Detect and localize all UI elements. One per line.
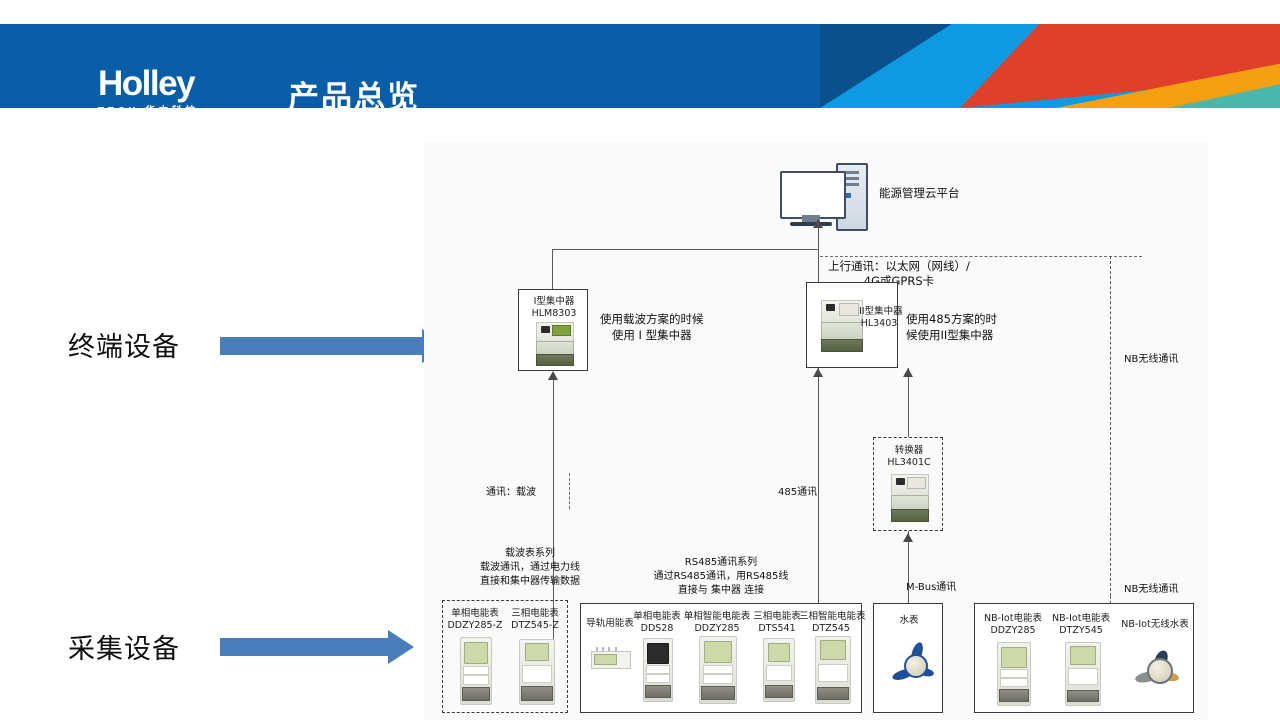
arrow-carrier-into-conc1 <box>548 371 558 380</box>
dashed-uplink-divider <box>820 256 1142 257</box>
arrow-into-converter <box>903 533 913 542</box>
band-label-terminal: 终端设备 <box>68 325 180 364</box>
converter-image <box>891 474 927 522</box>
rs485-series-box[interactable]: 导轨用能表 单相电能表 DDS28 单相智能电能表 DDZY285 <box>580 603 862 713</box>
slide-page: Holley TECH 华立科技 产品总览 终端设备 采集设备 能源管理云平台 <box>0 0 1280 720</box>
logo-wordmark: Holley <box>98 66 268 102</box>
rs485-device-2-name-2: DDZY285 <box>682 622 752 635</box>
line-converter-to-conc2 <box>908 368 909 437</box>
arrow-converter-into-conc2 <box>903 368 913 377</box>
water-meter-icon <box>890 642 938 688</box>
cloud-platform-label: 能源管理云平台 <box>879 185 960 201</box>
rs485-device-3-image <box>763 638 793 700</box>
concentrator-2-note-line1: 使用485方案的时 <box>906 311 997 327</box>
carrier-device-1-name-2: DTZ545-Z <box>505 619 565 632</box>
concentrator-2-note: 使用485方案的时 候使用II型集中器 <box>906 311 997 343</box>
band-arrow-terminal <box>220 329 448 363</box>
nbiot-water-meter-icon <box>1131 648 1183 692</box>
desktop-computer-icon <box>780 163 866 227</box>
concentrator-1-note-line2: 使用 I 型集中器 <box>600 327 704 343</box>
concentrator-1-box[interactable]: I型集中器 HLM8303 <box>518 289 588 371</box>
link-label-nb-bottom: NB无线通讯 <box>1124 583 1178 597</box>
band-label-collection: 采集设备 <box>68 627 180 666</box>
arrow-485-into-conc2 <box>813 368 823 377</box>
rs485-device-3-name-2: DTS541 <box>749 622 805 635</box>
nbiot-series-box[interactable]: NB-Iot电能表 DDZY285 NB-Iot电能表 DTZY545 <box>974 603 1194 713</box>
converter-box[interactable]: 转换器 HL3401C <box>873 437 943 531</box>
concentrator-2-box[interactable]: II型集中器 HL3403 <box>806 282 898 368</box>
slide-header: Holley TECH 华立科技 产品总览 <box>0 24 1280 108</box>
nbiot-device-0-name-2: DDZY285 <box>979 624 1047 637</box>
carrier-device-0-image <box>460 637 490 703</box>
line-conc1-uplink <box>552 249 553 289</box>
line-cloud-feed <box>818 227 819 249</box>
link-label-rs485: 485通讯 <box>778 486 817 500</box>
concentrator-1-note: 使用载波方案的时候 使用 I 型集中器 <box>600 311 704 343</box>
concentrator-1-caption-2: HLM8303 <box>519 307 589 320</box>
rs485-device-1-name-2: DDS28 <box>629 622 685 635</box>
rs485-device-4-image <box>815 636 849 702</box>
diagram-canvas: 能源管理云平台 上行通讯：以太网（网线）/ 4G或GPRS卡 I型集中器 HLM… <box>424 143 1208 720</box>
rs485-device-4-name-2: DTZ545 <box>799 622 863 635</box>
page-title: 产品总览 <box>288 72 420 108</box>
rs485-series-title: RS485通讯系列 <box>576 556 866 570</box>
carrier-device-0-name-2: DDZY285-Z <box>445 619 505 632</box>
line-trunk-horizontal <box>552 249 819 250</box>
holley-logo: Holley TECH 华立科技 <box>98 66 268 108</box>
uplink-note-line1: 上行通讯：以太网（网线）/ <box>828 259 970 274</box>
rs485-device-2-image <box>699 636 735 702</box>
rs485-series-desc-2: 直接与 集中器 连接 <box>576 584 866 598</box>
arrow-to-cloud <box>813 219 823 228</box>
converter-caption-2: HL3401C <box>874 456 944 469</box>
rs485-device-0-image <box>591 646 629 672</box>
concentrator-2-image <box>821 300 861 352</box>
nbiot-device-1-name-2: DTZY545 <box>1047 624 1115 637</box>
dashed-nb-line <box>1110 256 1111 596</box>
link-label-nb-right: NB无线通讯 <box>1124 353 1178 367</box>
nbiot-device-0-image <box>997 642 1029 704</box>
concentrator-1-image <box>536 322 572 366</box>
concentrator-1-note-line1: 使用载波方案的时候 <box>600 311 704 327</box>
concentrator-2-caption-2: HL3403 <box>859 317 899 330</box>
logo-subtitle: TECH 华立科技 <box>98 102 268 108</box>
band-arrow-collection <box>220 630 414 664</box>
water-meter-box[interactable]: 水表 <box>873 603 943 713</box>
water-meter-name: 水表 <box>874 614 944 627</box>
rs485-series-heading: RS485通讯系列 通过RS485通讯，用RS485线 直接与 集中器 连接 <box>576 556 866 598</box>
carrier-device-1-image <box>519 639 553 703</box>
carrier-series-box[interactable]: 单相电能表 DDZY285-Z 三相电能表 DTZ545-Z <box>442 600 568 713</box>
nbiot-device-1-image <box>1065 642 1099 704</box>
rs485-series-desc-1: 通过RS485通讯，用RS485线 <box>576 570 866 584</box>
rs485-device-1-image <box>643 638 671 700</box>
dashed-divider-carrier <box>569 473 570 509</box>
nbiot-device-2-name-1: NB-Iot无线水表 <box>1117 618 1193 631</box>
link-label-carrier: 通讯：载波 <box>486 486 536 500</box>
link-label-mbus: M-Bus通讯 <box>906 581 956 595</box>
concentrator-2-note-line2: 候使用II型集中器 <box>906 327 997 343</box>
